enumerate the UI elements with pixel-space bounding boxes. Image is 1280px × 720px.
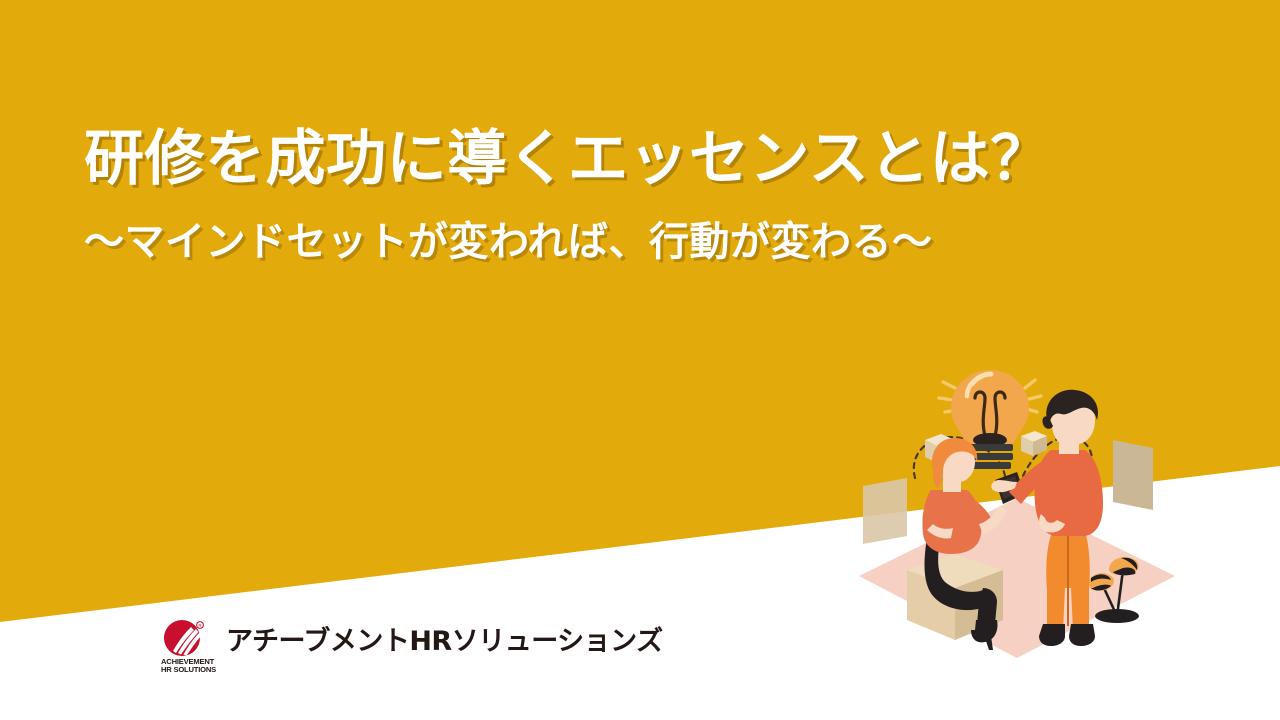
slide-canvas: 研修を成功に導くエッセンスとは？ 〜マインドセットが変われば、行動が変わる〜 R… (0, 0, 1280, 720)
page-title: 研修を成功に導くエッセンスとは？ (84, 126, 1134, 193)
title-block: 研修を成功に導くエッセンスとは？ 〜マインドセットが変われば、行動が変わる〜 (84, 126, 1134, 265)
brand-logo: R ACHIEVEMENT HR SOLUTIONS アチーブメントHRソリュー… (158, 618, 663, 674)
brand-wordmark: アチーブメントHRソリューションズ (226, 628, 663, 655)
svg-text:R: R (198, 623, 201, 628)
wall-panel-right (1113, 440, 1153, 510)
floating-cube-mid (1021, 431, 1047, 456)
svg-text:HR SOLUTIONS: HR SOLUTIONS (161, 665, 216, 674)
page-subtitle: 〜マインドセットが変われば、行動が変わる〜 (84, 219, 1134, 265)
achievement-logo-icon: R ACHIEVEMENT HR SOLUTIONS (158, 618, 216, 674)
wall-panel-left (863, 478, 907, 544)
hero-illustration (845, 358, 1185, 658)
